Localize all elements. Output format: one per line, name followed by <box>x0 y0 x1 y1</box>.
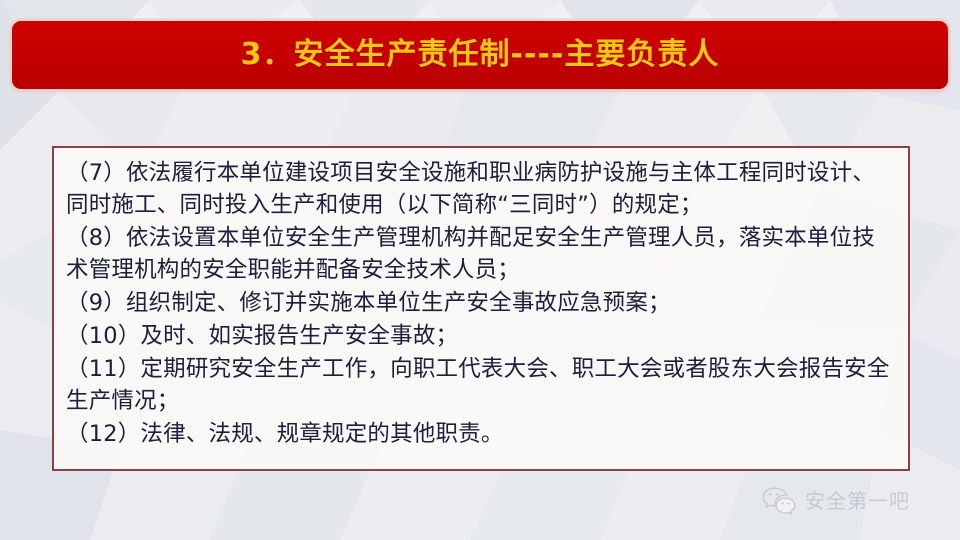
slide-canvas: 3．安全生产责任制----主要负责人 （7）依法履行本单位建设项目安全设施和职业… <box>0 0 960 540</box>
watermark: 安全第一吧 <box>762 487 910 515</box>
slide-title-text: 3．安全生产责任制----主要负责人 <box>241 40 720 70</box>
content-item: （12）法律、法规、规章规定的其他职责。 <box>66 419 896 451</box>
content-item-list: （7）依法履行本单位建设项目安全设施和职业病防护设施与主体工程同时设计、同时施工… <box>66 158 896 450</box>
content-item: （9）组织制定、修订并实施本单位生产安全事故应急预案； <box>66 288 896 320</box>
content-box: （7）依法履行本单位建设项目安全设施和职业病防护设施与主体工程同时设计、同时施工… <box>52 146 910 471</box>
content-item: （10）及时、如实报告生产安全事故； <box>66 321 896 353</box>
slide-title-banner: 3．安全生产责任制----主要负责人 <box>12 21 948 89</box>
content-item: （7）依法履行本单位建设项目安全设施和职业病防护设施与主体工程同时设计、同时施工… <box>66 158 896 222</box>
content-item: （8）依法设置本单位安全生产管理机构并配足安全生产管理人员，落实本单位技术管理机… <box>66 223 896 287</box>
wechat-icon <box>762 487 796 515</box>
watermark-text: 安全第一吧 <box>805 491 910 511</box>
content-item: （11）定期研究安全生产工作，向职工代表大会、职工大会或者股东大会报告安全生产情… <box>66 354 896 418</box>
